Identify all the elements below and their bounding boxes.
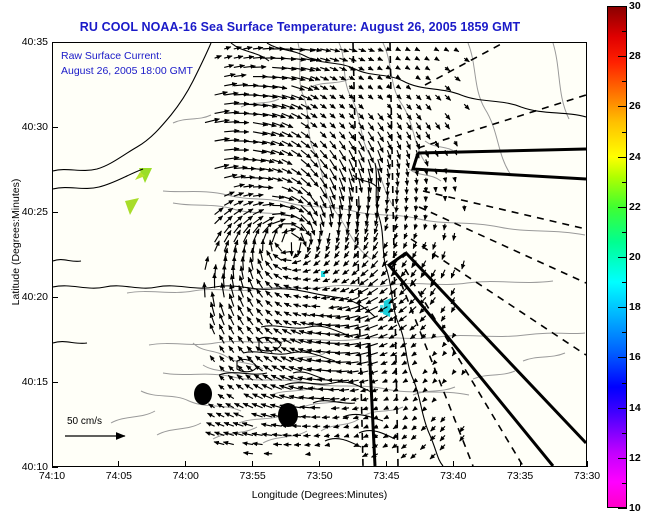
x-tick-mark (453, 461, 454, 467)
y-axis-label: Latitude (Degrees:Minutes) (10, 142, 22, 342)
x-tick-label: 73:40 (440, 470, 466, 482)
y-tick-mark (52, 467, 58, 468)
x-tick-label: 73:55 (239, 470, 265, 482)
colorbar-minor-tick (622, 182, 627, 183)
colorbar-minor-tick (622, 383, 627, 384)
figure-title: RU COOL NOAA-16 Sea Surface Temperature:… (0, 20, 600, 34)
current-annotation: Raw Surface Current: August 26, 2005 18:… (61, 49, 193, 79)
colorbar-tick-label: 14 (629, 402, 641, 414)
colorbar-minor-tick (622, 332, 627, 333)
colorbar-minor-tick (622, 132, 627, 133)
x-tick-label: 73:50 (306, 470, 332, 482)
annotation-line-2: August 26, 2005 18:00 GMT (61, 64, 193, 79)
colorbar-minor-tick (622, 282, 627, 283)
station-marker-2[interactable] (278, 403, 298, 427)
y-tick-mark (52, 212, 58, 213)
colorbar-tick-label: 16 (629, 351, 641, 363)
map-plot-area[interactable]: Raw Surface Current: August 26, 2005 18:… (52, 42, 587, 467)
x-tick-label: 73:30 (574, 470, 600, 482)
colorbar-tick-label: 24 (629, 151, 641, 163)
x-tick-mark (587, 461, 588, 467)
colorbar-tick-mark (618, 408, 627, 409)
x-tick-mark (252, 461, 253, 467)
y-tick-label: 40:30 (22, 121, 48, 133)
colorbar-tick-mark (618, 257, 627, 258)
y-tick-label: 40:35 (22, 36, 48, 48)
y-tick-label: 40:20 (22, 291, 48, 303)
colorbar-tick-label: 26 (629, 100, 641, 112)
colorbar-tick-mark (618, 106, 627, 107)
x-tick-label: 73:45 (373, 470, 399, 482)
x-tick-label: 74:05 (106, 470, 132, 482)
y-tick-label: 40:25 (22, 206, 48, 218)
y-tick-label: 40:15 (22, 376, 48, 388)
x-tick-mark (118, 461, 119, 467)
x-tick-mark (520, 461, 521, 467)
colorbar-tick-label: 12 (629, 452, 641, 464)
colorbar-tick-label: 20 (629, 251, 641, 263)
colorbar-tick-mark (618, 458, 627, 459)
y-tick-label: 40:10 (22, 461, 48, 473)
colorbar-tick-mark (618, 6, 627, 7)
colorbar-minor-tick (622, 483, 627, 484)
colorbar-tick-mark (618, 508, 627, 509)
y-tick-mark (52, 127, 58, 128)
x-tick-mark (185, 461, 186, 467)
sst-map-figure: RU COOL NOAA-16 Sea Surface Temperature:… (0, 0, 651, 518)
annotation-line-1: Raw Surface Current: (61, 49, 193, 64)
colorbar-tick-label: 22 (629, 201, 641, 213)
y-tick-mark (52, 42, 58, 43)
colorbar-tick-mark (618, 157, 627, 158)
station-marker-1[interactable] (194, 383, 212, 405)
colorbar-minor-tick (622, 232, 627, 233)
colorbar-tick-mark (618, 207, 627, 208)
x-tick-label: 74:00 (173, 470, 199, 482)
x-axis-label: Longitude (Degrees:Minutes) (52, 489, 587, 501)
velocity-scale-label: 50 cm/s (67, 416, 157, 427)
colorbar-tick-mark (618, 307, 627, 308)
map-canvas (53, 43, 586, 466)
x-tick-mark (386, 461, 387, 467)
colorbar-tick-label: 18 (629, 301, 641, 313)
x-tick-mark (319, 461, 320, 467)
x-tick-label: 73:35 (507, 470, 533, 482)
colorbar-tick-mark (618, 357, 627, 358)
colorbar-minor-tick (622, 81, 627, 82)
colorbar-tick-mark (618, 56, 627, 57)
colorbar-tick-label: 10 (629, 502, 641, 514)
colorbar-minor-tick (622, 433, 627, 434)
y-tick-mark (52, 382, 58, 383)
y-tick-mark (52, 297, 58, 298)
velocity-scale: 50 cm/s (52, 416, 157, 448)
colorbar-minor-tick (622, 31, 627, 32)
colorbar-tick-label: 28 (629, 50, 641, 62)
colorbar-tick-label: 30 (629, 0, 641, 12)
right-arrow-icon (52, 427, 157, 443)
